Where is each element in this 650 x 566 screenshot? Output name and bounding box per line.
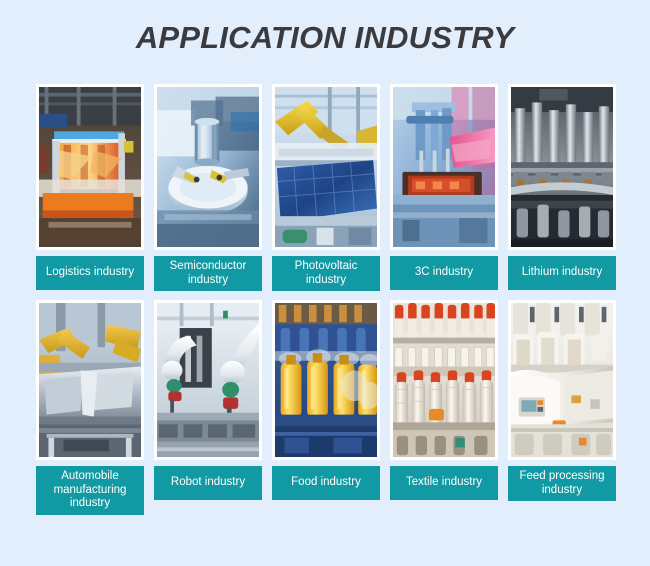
industry-card-automobile[interactable]: Automobile manufacturing industry [36,300,144,515]
industry-card-semiconductor[interactable]: Semiconductor industry [154,84,262,291]
industry-card-photovoltaic[interactable]: Photovoltaic industry [272,84,380,291]
semiconductor-wafer-machine-photo [154,84,262,250]
food-bottling-line-photo [272,300,380,460]
industry-card-label: Textile industry [390,466,498,500]
photovoltaic-robot-panel-photo [272,84,380,250]
industry-card-logistics[interactable]: Logistics industry [36,84,144,291]
industry-card-label: Semiconductor industry [154,256,262,291]
industry-card-food[interactable]: Food industry [272,300,380,515]
industry-card-3c[interactable]: 3C industry [390,84,498,291]
logistics-conveyor-photo [36,84,144,250]
feed-processing-mill-photo [508,300,616,460]
industry-card-robot[interactable]: Robot industry [154,300,262,515]
industry-card-label: Feed processing industry [508,466,616,501]
industry-card-label: Logistics industry [36,256,144,290]
3c-electronics-assembly-photo [390,84,498,250]
application-industry-page: APPLICATION INDUSTRY [0,0,650,566]
automobile-welding-robots-photo [36,300,144,460]
industry-card-label: Automobile manufacturing industry [36,466,144,515]
robot-arm-photo [154,300,262,460]
industry-card-textile[interactable]: Textile industry [390,300,498,515]
industry-grid: Logistics industry [36,84,616,515]
industry-card-label: 3C industry [390,256,498,290]
industry-card-label: Lithium industry [508,256,616,290]
industry-card-label: Photovoltaic industry [272,256,380,291]
industry-card-label: Robot industry [154,466,262,500]
page-title: APPLICATION INDUSTRY [0,20,650,56]
industry-card-lithium[interactable]: Lithium industry [508,84,616,291]
textile-spinning-machine-photo [390,300,498,460]
industry-card-label: Food industry [272,466,380,500]
lithium-battery-machine-photo [508,84,616,250]
industry-card-feed-processing[interactable]: Feed processing industry [508,300,616,515]
